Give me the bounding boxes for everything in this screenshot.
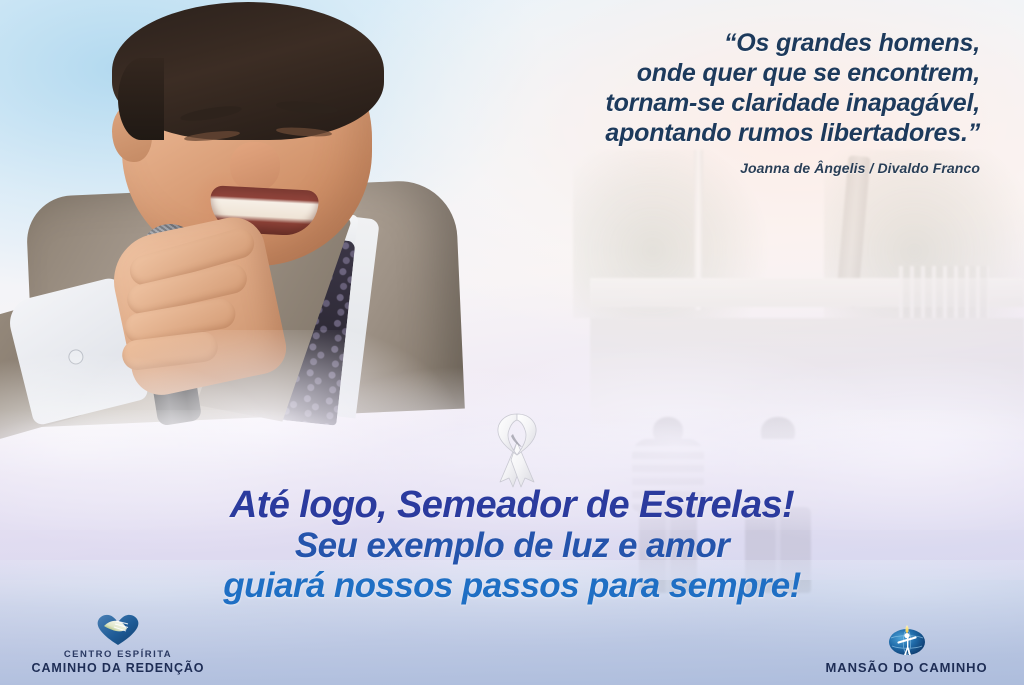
logo-centro-espirita[interactable]: CENTRO ESPÍRITA CAMINHO DA REDENÇÃO	[18, 612, 218, 675]
quote-block: “Os grandes homens, onde quer que se enc…	[420, 28, 980, 176]
portrait-divaldo-franco	[0, 0, 464, 412]
headline-block: Até logo, Semeador de Estrelas! Seu exem…	[0, 484, 1024, 606]
quote-line-2: onde quer que se encontrem,	[420, 58, 980, 88]
quote-line-3: tornam-se claridade inapagável,	[420, 88, 980, 118]
logo-mansao-do-caminho[interactable]: MANSÃO DO CAMINHO	[799, 623, 1014, 675]
logo-right-text: MANSÃO DO CAMINHO	[799, 660, 1014, 675]
heart-hand-icon	[18, 612, 218, 646]
logo-right-line-2: MANSÃO DO CAMINHO	[799, 660, 1014, 675]
quote-line-4: apontando rumos libertadores.”	[420, 118, 980, 148]
portrait-hair	[112, 2, 384, 140]
globe-figure-flame-icon	[799, 623, 1014, 657]
quote-author: Joanna de Ângelis / Divaldo Franco	[420, 160, 980, 176]
logo-left-line-1: CENTRO ESPÍRITA	[18, 649, 218, 660]
headline-line-2: Seu exemplo de luz e amor	[0, 526, 1024, 566]
headline-line-3: guiará nossos passos para sempre!	[0, 566, 1024, 606]
memorial-poster: “Os grandes homens, onde quer que se enc…	[0, 0, 1024, 685]
logo-left-line-2: CAMINHO DA REDENÇÃO	[18, 661, 218, 675]
mourning-ribbon-icon	[480, 408, 554, 488]
logo-left-text: CENTRO ESPÍRITA CAMINHO DA REDENÇÃO	[18, 649, 218, 675]
headline-line-1: Até logo, Semeador de Estrelas!	[0, 484, 1024, 526]
quote-line-1: “Os grandes homens,	[420, 28, 980, 58]
background-photo	[590, 150, 1024, 440]
